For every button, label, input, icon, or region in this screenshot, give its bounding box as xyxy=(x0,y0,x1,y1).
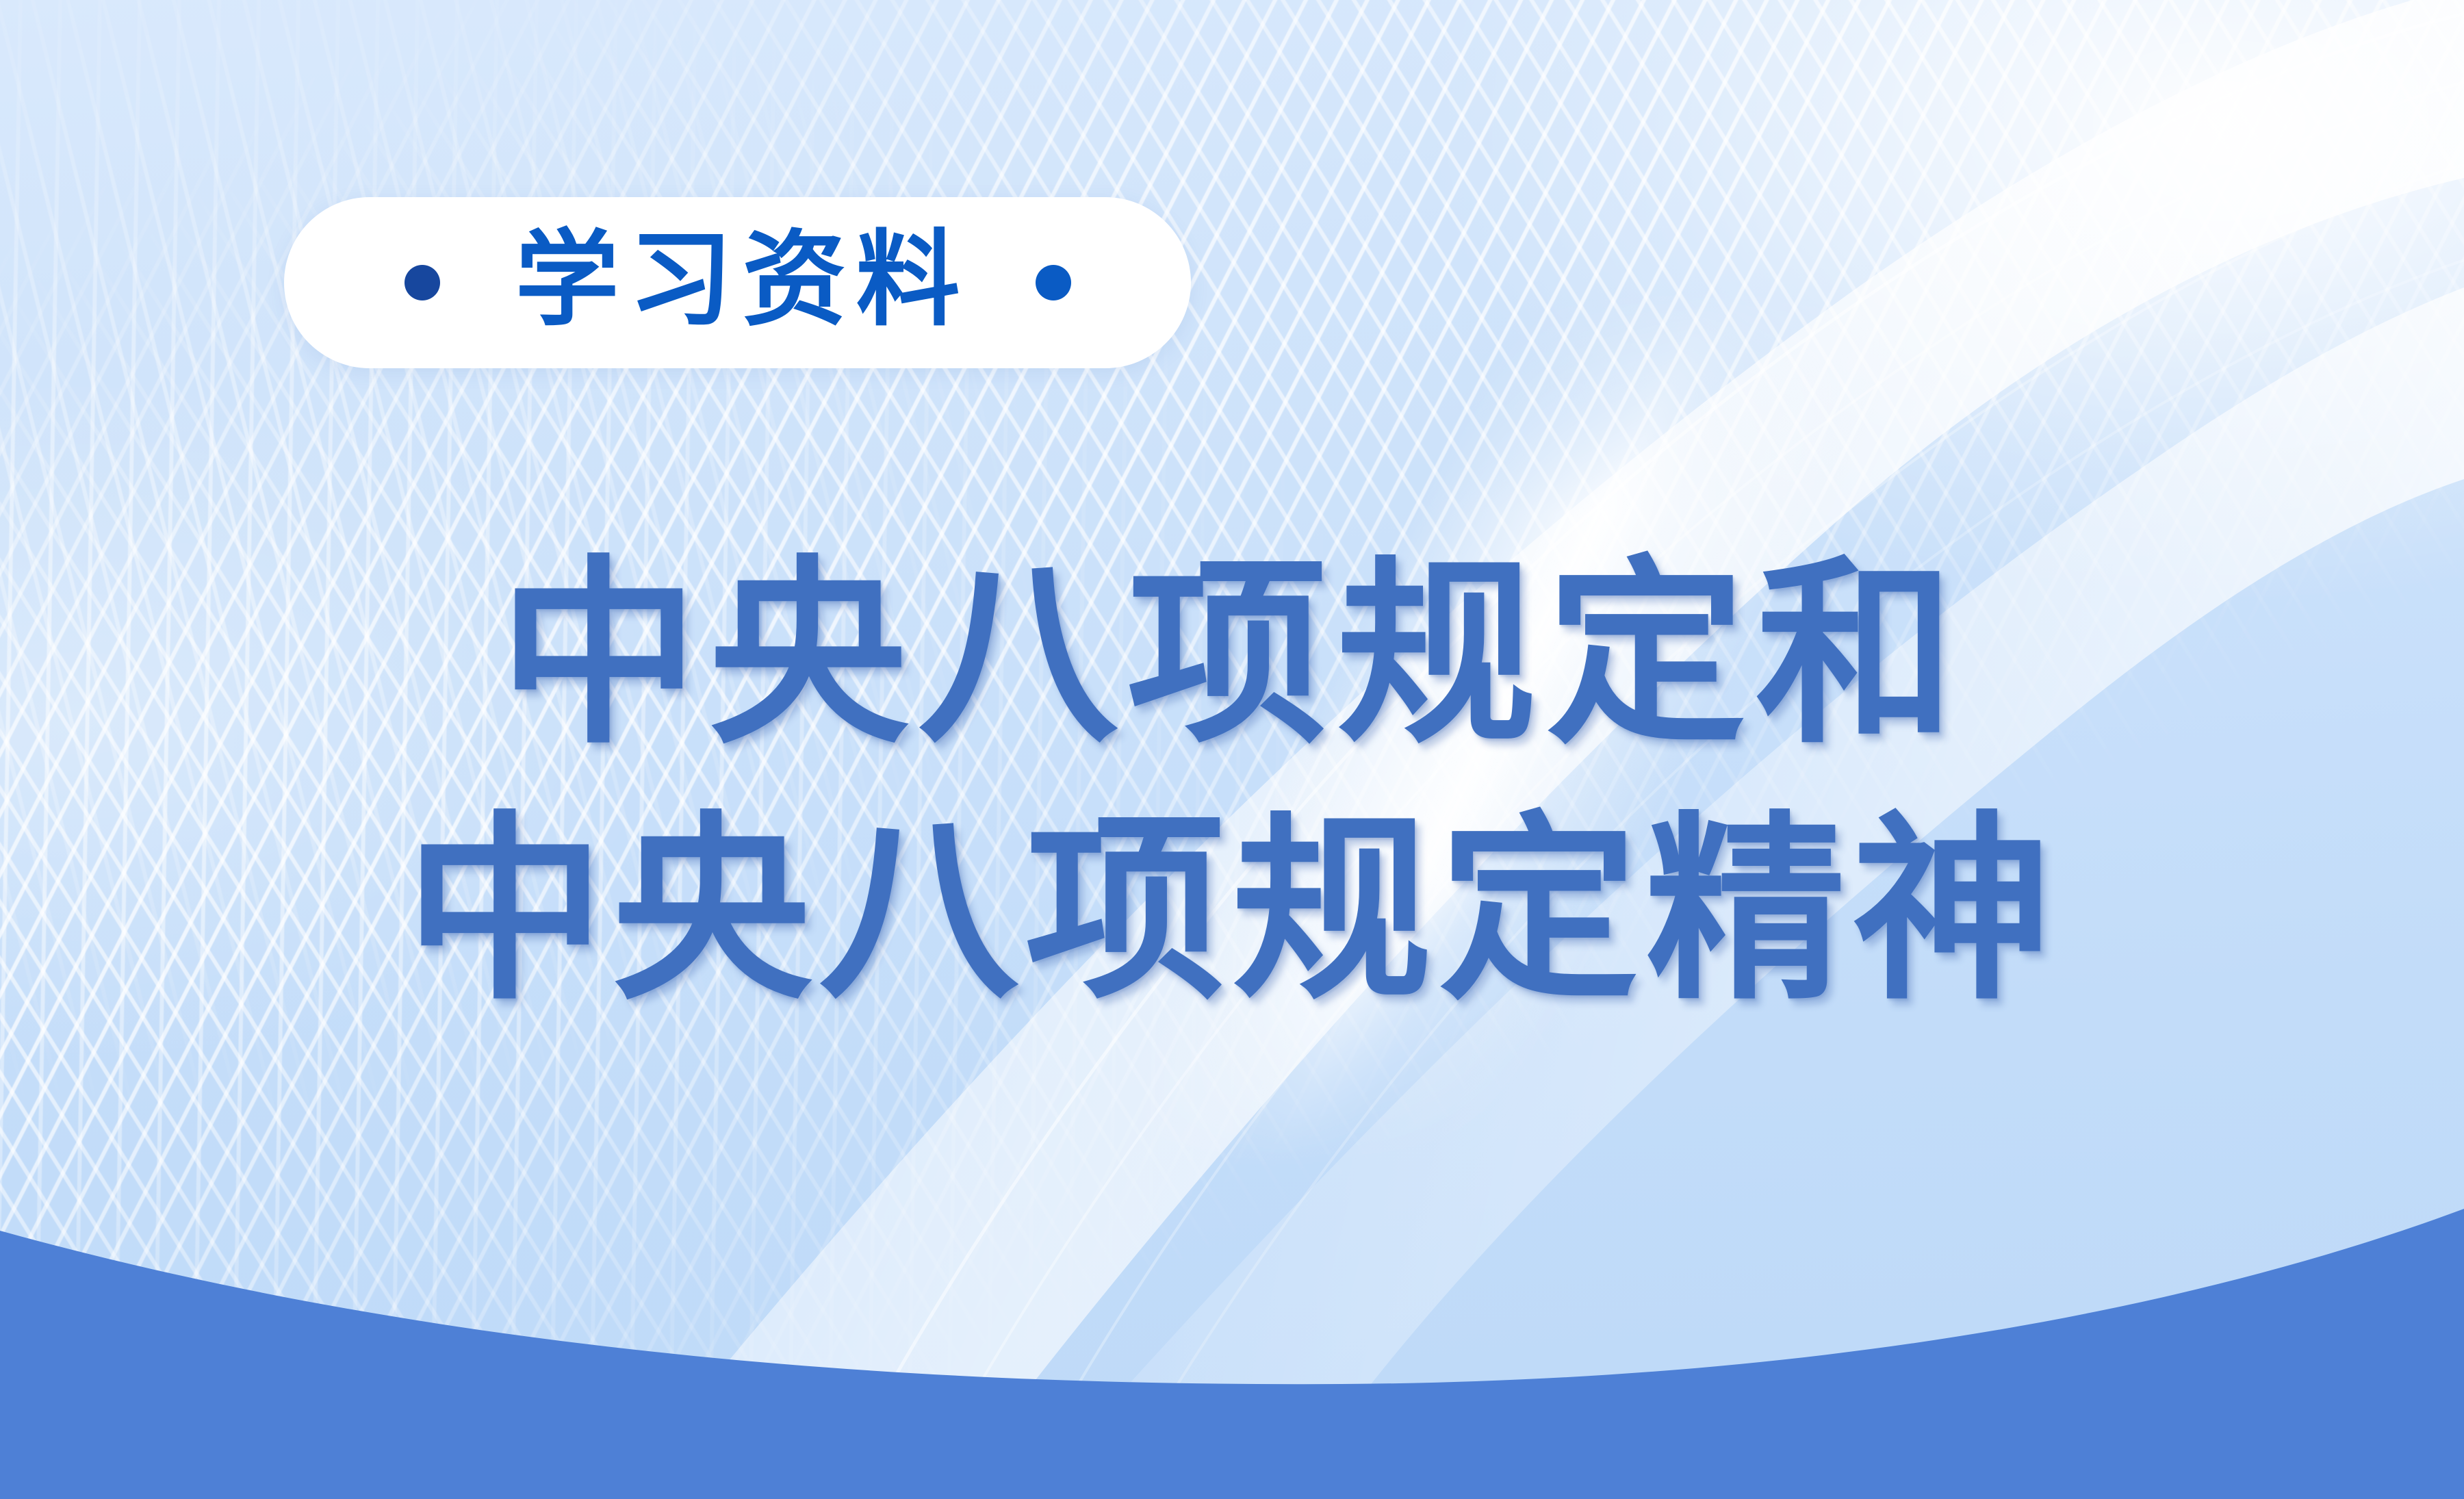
bullet-dot-right-icon xyxy=(1036,265,1071,300)
badge-label: 学习资料 xyxy=(506,228,970,332)
title-line-2: 中央八项规定精神 xyxy=(0,783,2464,1039)
study-material-badge: 学习资料 xyxy=(284,197,1191,368)
title-line-1: 中央八项规定和 xyxy=(0,527,2464,783)
bullet-dot-left-icon xyxy=(405,265,440,300)
poster-canvas: 学习资料 中央八项规定和 中央八项规定精神 xyxy=(0,0,2464,1499)
page-title: 中央八项规定和 中央八项规定精神 xyxy=(0,527,2464,1039)
